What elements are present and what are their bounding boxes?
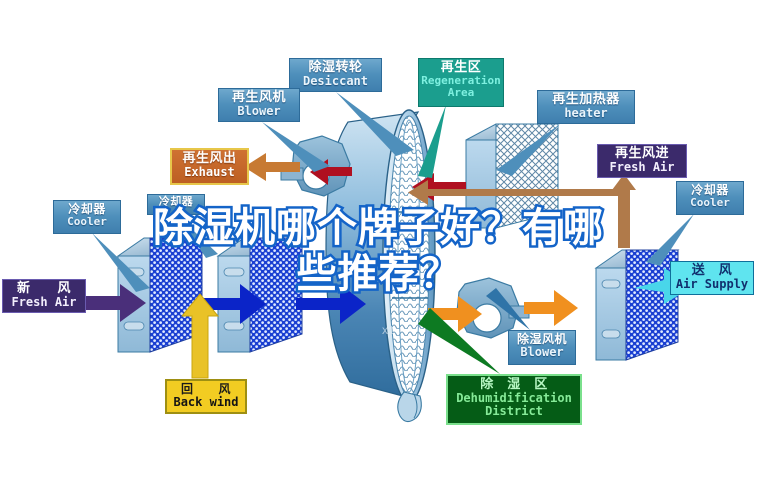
diagram-canvas: xt 除湿转轮 Desiccant 再生风机 Blower 再生区 Regene…	[0, 0, 757, 488]
label-cn: 再生风出	[172, 152, 247, 166]
label-cn: 再生风进	[598, 147, 686, 161]
label-en: Back wind	[167, 396, 245, 409]
headline-line-2: 些推荐？	[0, 251, 757, 297]
label-dehumidification-blower: 除湿风机 Blower	[508, 330, 576, 365]
label-back-wind: 回 风 Back wind	[165, 379, 247, 414]
label-en: Dehumidification District	[448, 392, 580, 417]
label-cn: 除 湿 区	[448, 378, 580, 392]
label-en: heater	[538, 107, 634, 120]
label-en: Exhaust	[172, 166, 247, 179]
label-cn: 除湿风机	[509, 333, 575, 346]
label-regeneration-fresh-air: 再生风进 Fresh Air	[597, 144, 687, 178]
headline-line-1: 除湿机哪个牌子好？有哪	[153, 205, 604, 251]
label-regeneration-area: 再生区 Regeneration Area	[418, 58, 504, 107]
label-en: Fresh Air	[598, 161, 686, 174]
label-en: Fresh Air	[3, 296, 85, 309]
label-dehumidification-district: 除 湿 区 Dehumidification District	[446, 374, 582, 425]
label-en: Desiccant	[290, 75, 381, 88]
headline-overlay: 除湿机哪个牌子好？有哪 些推荐？	[0, 205, 757, 297]
label-cn: 再生区	[419, 61, 503, 75]
label-desiccant-wheel: 除湿转轮 Desiccant	[289, 58, 382, 92]
label-cn: 除湿转轮	[290, 61, 381, 75]
label-en: Blower	[509, 346, 575, 359]
label-cn: 再生加热器	[538, 93, 634, 107]
label-cn: 再生风机	[219, 91, 299, 105]
label-en: Blower	[219, 105, 299, 118]
label-exhaust: 再生风出 Exhaust	[170, 148, 249, 185]
label-en: Regeneration Area	[419, 75, 503, 98]
watermark-text: xt	[382, 323, 395, 337]
label-cn: 回 风	[167, 383, 245, 396]
label-regeneration-heater: 再生加热器 heater	[537, 90, 635, 124]
label-regeneration-blower: 再生风机 Blower	[218, 88, 300, 122]
label-cn: 冷却器	[677, 184, 743, 197]
